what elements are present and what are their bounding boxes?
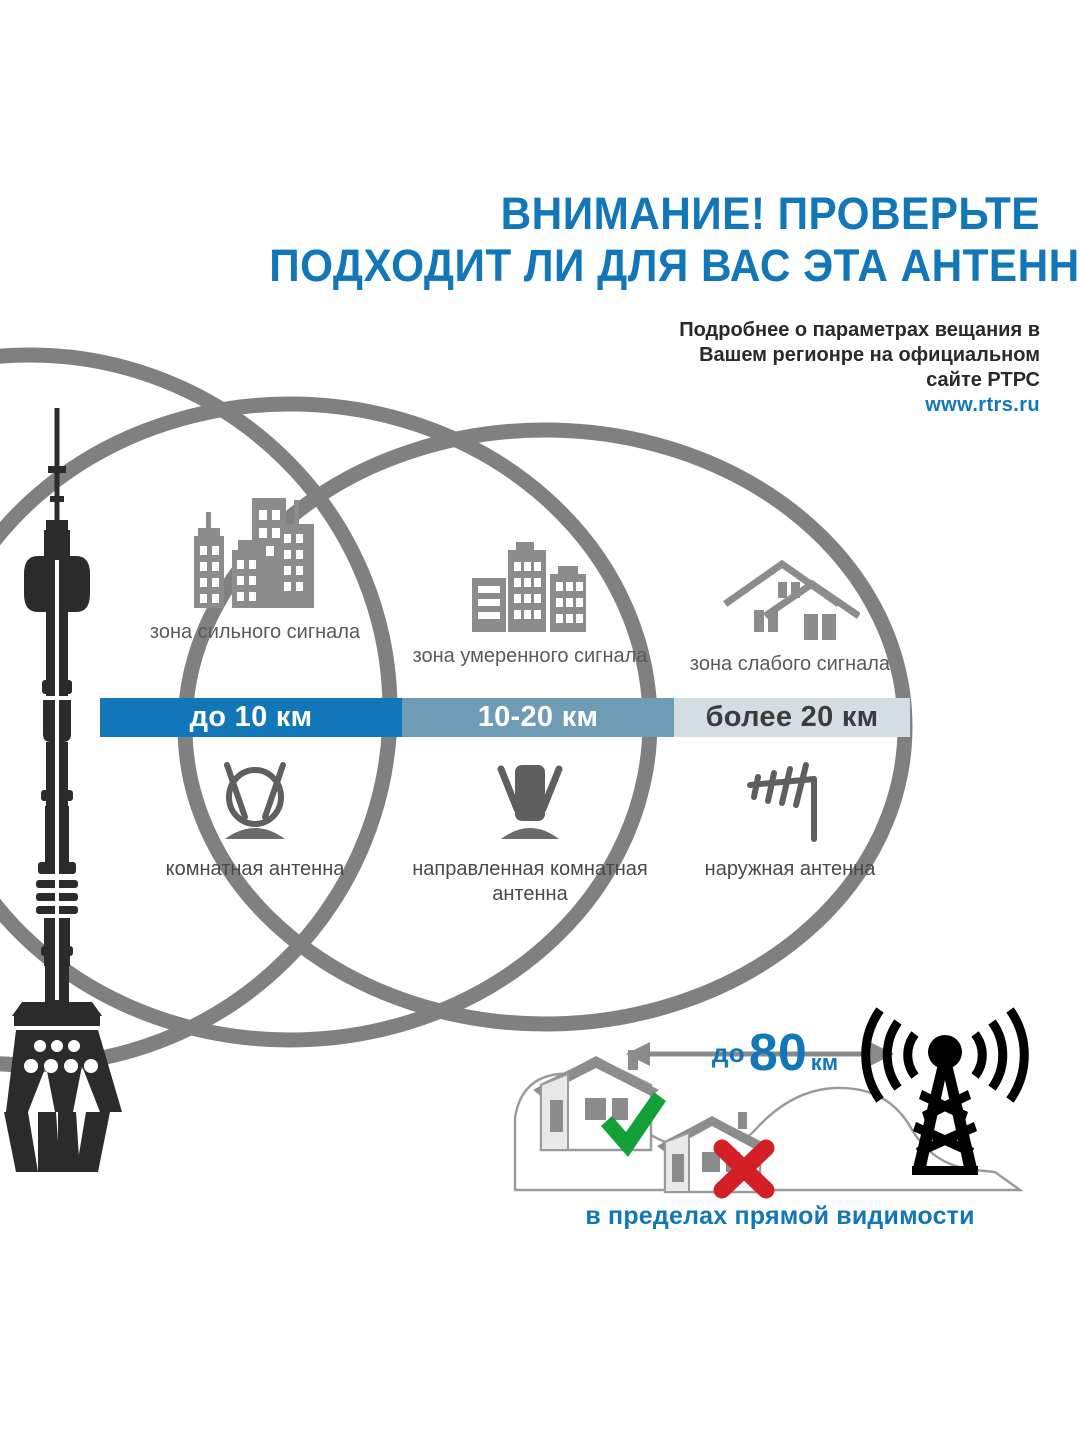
distance-prefix: до bbox=[712, 1038, 745, 1069]
line-of-sight-distance: до 80 км bbox=[660, 1024, 890, 1082]
infographic-root: ВНИМАНИЕ! ПРОВЕРЬТЕ ПОДХОДИТ ЛИ ДЛЯ ВАС … bbox=[0, 0, 1080, 1440]
distance-unit: км bbox=[811, 1050, 838, 1076]
line-of-sight-caption: в пределах прямой видимости bbox=[520, 1202, 1040, 1231]
distance-value: 80 bbox=[749, 1027, 807, 1079]
